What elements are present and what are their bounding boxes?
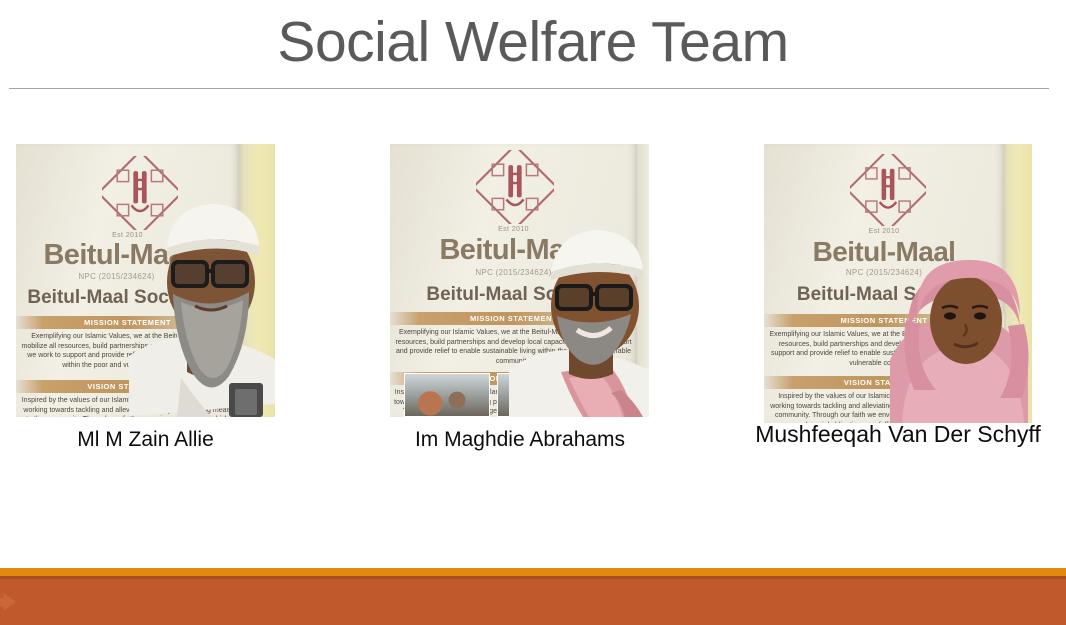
title-divider <box>9 88 1049 89</box>
person-portrait <box>509 222 649 417</box>
banner-photo-thumb <box>404 373 490 417</box>
page-title: Social Welfare Team <box>0 6 1066 78</box>
member-caption-1: Ml M Zain Allie <box>16 428 275 452</box>
footer-accent-stripe <box>0 568 1066 576</box>
banner-est: Est 2010 <box>764 228 1004 235</box>
footer-band <box>0 579 1066 625</box>
member-photo-1[interactable]: Est 2010 Beitul-Maal NPC (2015/234624) B… <box>16 144 275 417</box>
member-photo-2[interactable]: Est 2010 Beitul-Maal NPC (2015/234624) B… <box>390 144 649 417</box>
beitul-maal-logo-icon <box>476 150 554 224</box>
slide: Social Welfare Team <box>0 0 1066 625</box>
member-photo-3[interactable]: Est 2010 Beitul-Maal NPC (2015/234624) B… <box>764 144 1032 423</box>
beitul-maal-logo-icon <box>850 154 926 226</box>
member-caption-3: Mushfeeqah Van Der Schyff <box>748 421 1048 448</box>
person-portrait <box>129 178 275 417</box>
person-portrait <box>880 240 1030 423</box>
member-caption-2: Im Maghdie Abrahams <box>380 428 660 452</box>
